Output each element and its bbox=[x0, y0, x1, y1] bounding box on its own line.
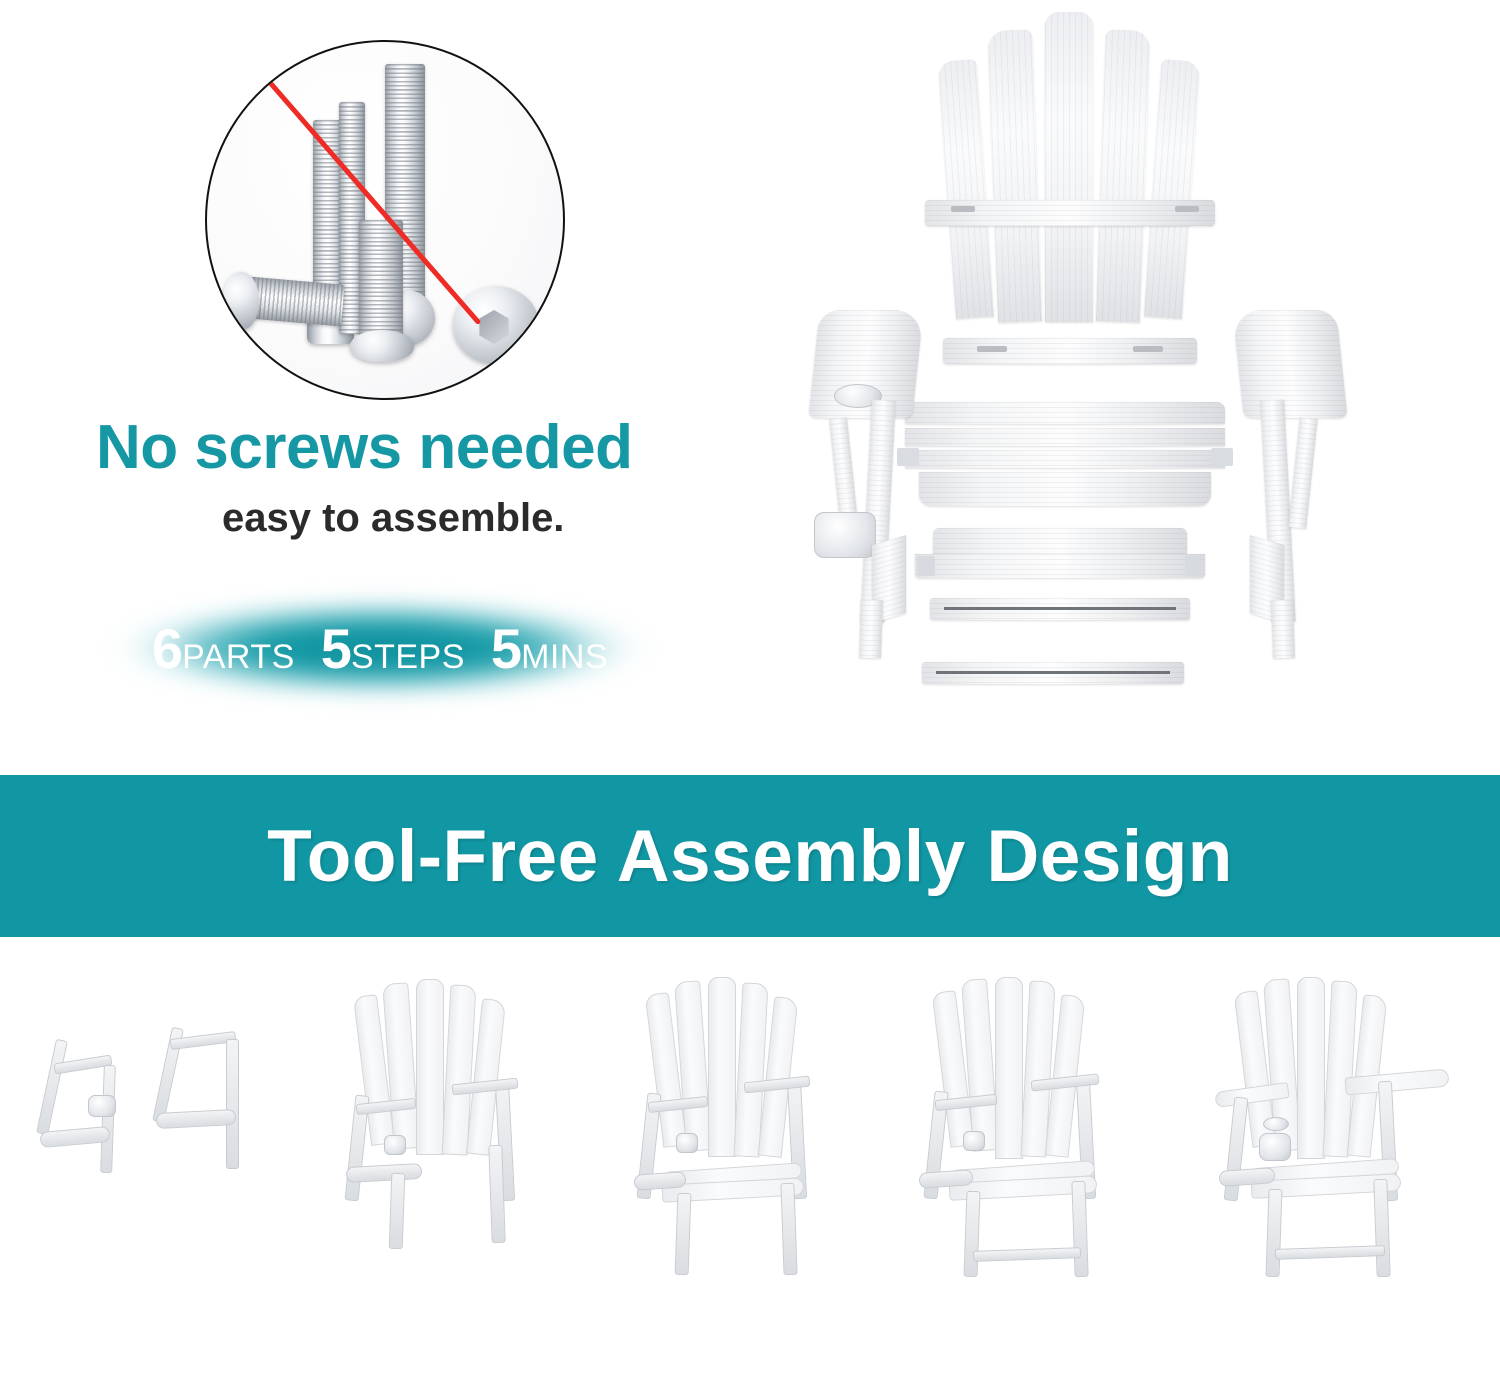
right-leg-bottom bbox=[1271, 600, 1295, 659]
bolt-head-center bbox=[350, 330, 414, 362]
s5-left-leg bbox=[1265, 1189, 1282, 1277]
s3-cup-holder-icon bbox=[676, 1133, 698, 1153]
badge-steps-unit: STEPS bbox=[351, 640, 465, 674]
backrest-slat-3 bbox=[1045, 12, 1093, 322]
s4-left-leg bbox=[964, 1191, 981, 1277]
s1-frame-a-top bbox=[36, 1039, 68, 1135]
assembly-steps-section: › › bbox=[0, 937, 1500, 1379]
cross-bar-upper-part bbox=[930, 598, 1190, 622]
banner-tool-free-assembly: Tool-Free Assembly Design bbox=[0, 775, 1500, 937]
backrest-slat-1 bbox=[938, 59, 994, 319]
badge-item-steps: 5 STEPS bbox=[321, 621, 465, 677]
page-title: No screws needed bbox=[96, 412, 736, 483]
backrest-slat-4 bbox=[1096, 29, 1150, 322]
s2-back-slat-3 bbox=[416, 979, 444, 1155]
stats-badge: 6 PARTS 5 STEPS 5 MINS bbox=[90, 588, 670, 710]
badge-mins-number: 5 bbox=[491, 621, 521, 677]
step-4-figure bbox=[915, 977, 1165, 1277]
step-5-figure bbox=[1215, 977, 1465, 1277]
s4-back-slat-3 bbox=[995, 977, 1023, 1159]
s2-left-base bbox=[346, 1163, 423, 1183]
badge-mins-unit: MINS bbox=[521, 640, 608, 674]
seat-front-edge bbox=[919, 472, 1211, 506]
backrest-notch-left bbox=[951, 206, 975, 212]
cross-bar-upper-groove bbox=[944, 607, 1176, 610]
badge-text-row: 6 PARTS 5 STEPS 5 MINS bbox=[90, 588, 670, 710]
backrest-upper-rail bbox=[925, 200, 1215, 226]
seat-slat-3 bbox=[905, 450, 1225, 468]
step-3-figure bbox=[630, 977, 880, 1277]
screws-bolts-icon bbox=[207, 42, 563, 398]
s1-frame-a-base bbox=[39, 1126, 110, 1148]
apron-base bbox=[915, 554, 1205, 578]
step-1-art bbox=[10, 977, 260, 1277]
backrest-notch-right bbox=[1175, 206, 1199, 212]
step-5-art bbox=[1215, 977, 1465, 1277]
front-apron-part bbox=[915, 528, 1205, 584]
s1-cup-holder-icon bbox=[88, 1095, 116, 1117]
left-column: No screws needed easy to assemble. 6 PAR… bbox=[0, 0, 760, 775]
badge-parts-number: 6 bbox=[152, 621, 182, 677]
s5-cup-holder-icon bbox=[1259, 1133, 1291, 1161]
s2-cup-holder-icon bbox=[384, 1135, 406, 1155]
s2-left-leg bbox=[389, 1173, 406, 1249]
seat-slat-1 bbox=[905, 402, 1225, 424]
infographic-page: No screws needed easy to assemble. 6 PAR… bbox=[0, 0, 1500, 1379]
right-side-frame-part bbox=[1220, 300, 1350, 660]
badge-item-parts: 6 PARTS bbox=[152, 621, 295, 677]
step-3-art bbox=[630, 977, 880, 1277]
step-4-art bbox=[915, 977, 1165, 1277]
s4-cup-holder-icon bbox=[963, 1131, 985, 1151]
step-2-art bbox=[340, 977, 590, 1277]
seat-slat-2 bbox=[905, 428, 1225, 446]
left-cup-holder bbox=[814, 512, 876, 558]
s5-back-slat-3 bbox=[1297, 977, 1325, 1159]
banner-title: Tool-Free Assembly Design bbox=[267, 815, 1233, 898]
backrest-slat-2 bbox=[988, 29, 1042, 322]
page-subtitle: easy to assemble. bbox=[222, 496, 564, 541]
left-side-frame-part bbox=[808, 300, 938, 660]
right-armrest bbox=[1232, 310, 1347, 418]
s5-cross-bar bbox=[1275, 1245, 1385, 1260]
backrest-slot-right bbox=[1133, 346, 1163, 352]
s3-left-leg bbox=[675, 1193, 692, 1275]
step-2-figure bbox=[340, 977, 590, 1277]
badge-parts-unit: PARTS bbox=[182, 640, 295, 674]
backrest-panel-part bbox=[935, 8, 1205, 368]
badge-steps-number: 5 bbox=[321, 621, 351, 677]
left-front-support bbox=[829, 417, 857, 514]
bolt-short-center bbox=[359, 220, 403, 344]
bolt-head-lying-left bbox=[223, 272, 259, 330]
cross-bar-lower-part bbox=[922, 662, 1184, 686]
s1-frame-a-leg bbox=[100, 1065, 116, 1173]
badge-item-mins: 5 MINS bbox=[491, 621, 608, 677]
exploded-parts-view bbox=[760, 0, 1500, 775]
s4-cross-bar bbox=[973, 1247, 1081, 1262]
step-1-figure bbox=[10, 977, 260, 1277]
s1-frame-b-leg bbox=[226, 1039, 239, 1169]
s5-cup-hole-icon bbox=[1263, 1117, 1289, 1131]
seat-panel-part bbox=[905, 388, 1225, 516]
cross-bar-lower-groove bbox=[936, 671, 1170, 674]
screws-photo-circle bbox=[205, 40, 565, 400]
backrest-slot-left bbox=[977, 346, 1007, 352]
s1-frame-b-base bbox=[156, 1109, 237, 1129]
left-leg-bottom bbox=[859, 600, 883, 659]
right-front-support bbox=[1288, 417, 1317, 528]
s3-back-slat-3 bbox=[708, 977, 736, 1157]
backrest-slat-5 bbox=[1144, 59, 1200, 319]
apron-tab-right bbox=[1185, 556, 1203, 576]
top-section: No screws needed easy to assemble. 6 PAR… bbox=[0, 0, 1500, 775]
